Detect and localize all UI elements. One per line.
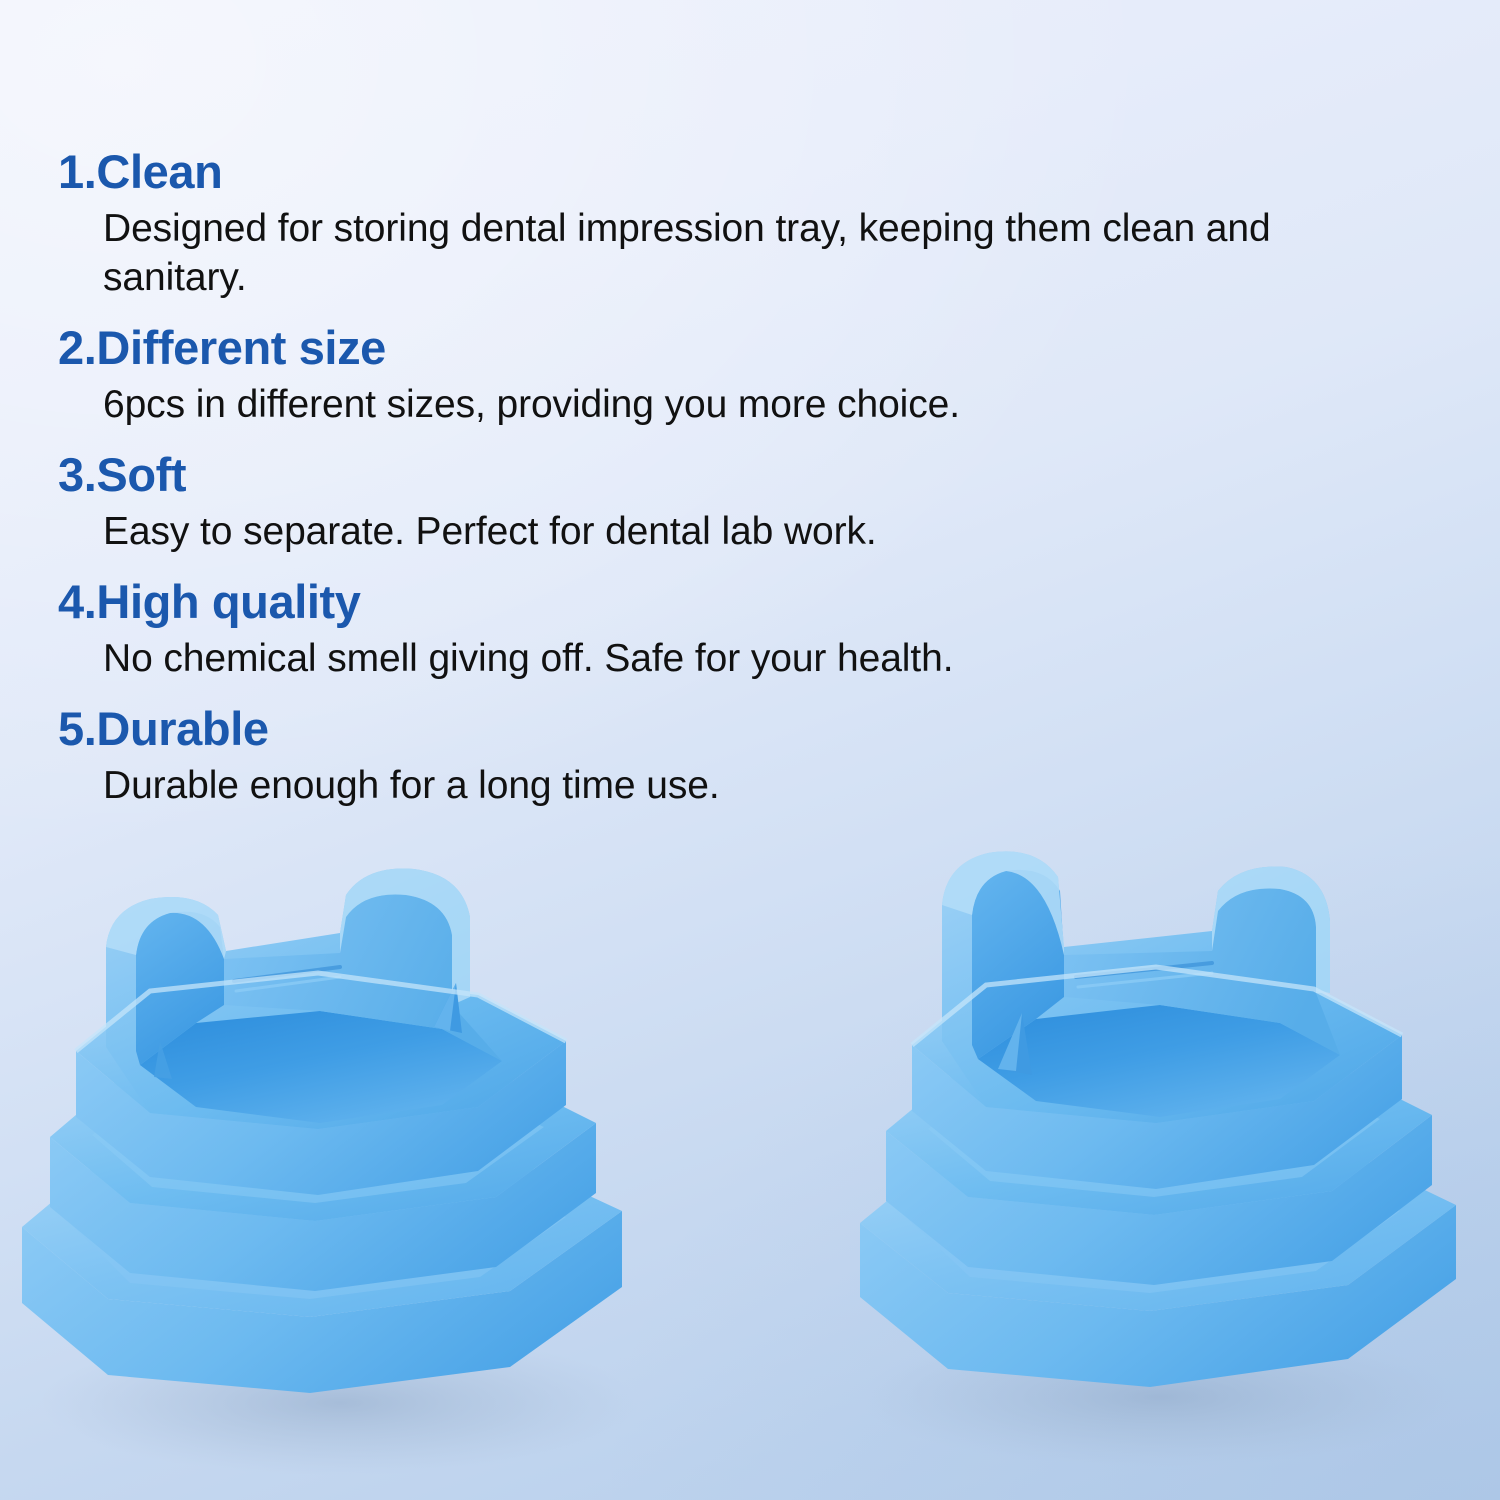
feature-heading: 1.Clean bbox=[58, 148, 1340, 197]
feature-heading: 3.Soft bbox=[58, 451, 1340, 500]
feature-item-soft: 3.Soft Easy to separate. Perfect for den… bbox=[58, 451, 1340, 556]
feature-heading: 2.Different size bbox=[58, 324, 1340, 373]
feature-body: Durable enough for a long time use. bbox=[103, 761, 1303, 810]
feature-item-clean: 1.Clean Designed for storing dental impr… bbox=[58, 148, 1340, 302]
tray-top bbox=[912, 851, 1402, 1189]
feature-list: 1.Clean Designed for storing dental impr… bbox=[0, 0, 1340, 810]
product-feature-page: 1.Clean Designed for storing dental impr… bbox=[0, 0, 1500, 1500]
product-photo bbox=[0, 855, 1500, 1500]
feature-item-durable: 5.Durable Durable enough for a long time… bbox=[58, 705, 1340, 810]
feature-body: 6pcs in different sizes, providing you m… bbox=[103, 380, 1303, 429]
tray-stack-left-illustration bbox=[10, 855, 710, 1500]
feature-heading: 4.High quality bbox=[58, 578, 1340, 627]
tray-stack-left bbox=[10, 855, 710, 1500]
feature-body: Easy to separate. Perfect for dental lab… bbox=[103, 507, 1303, 556]
tray-stack-right-illustration bbox=[820, 835, 1500, 1480]
tray-top bbox=[76, 869, 566, 1195]
feature-body: No chemical smell giving off. Safe for y… bbox=[103, 634, 1303, 683]
feature-body: Designed for storing dental impression t… bbox=[103, 204, 1303, 302]
feature-item-different-size: 2.Different size 6pcs in different sizes… bbox=[58, 324, 1340, 429]
feature-item-high-quality: 4.High quality No chemical smell giving … bbox=[58, 578, 1340, 683]
tray-stack-right bbox=[820, 835, 1500, 1480]
feature-heading: 5.Durable bbox=[58, 705, 1340, 754]
